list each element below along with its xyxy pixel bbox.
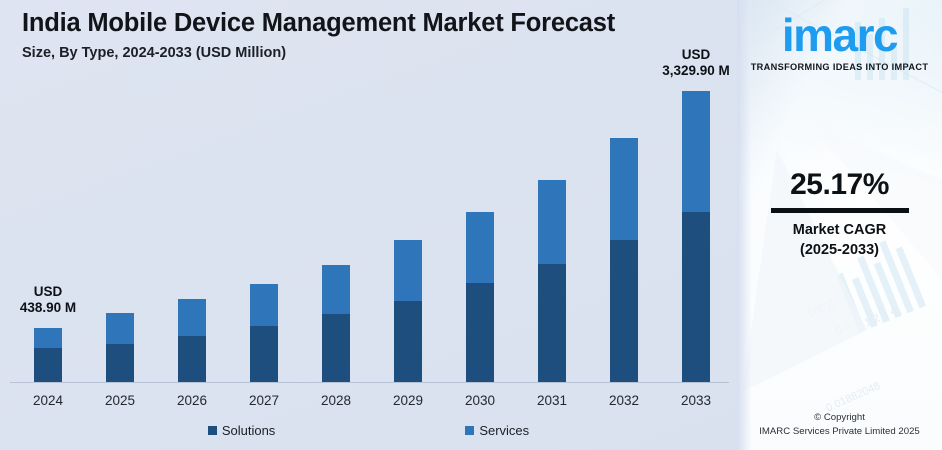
annotation-last-year-value: 3,329.90 M: [636, 63, 737, 79]
x-tick-2033: 2033: [666, 393, 726, 408]
bar-segment-services-2028[interactable]: [322, 265, 350, 314]
logo-wordmark: imarc: [782, 12, 897, 58]
x-tick-2030: 2030: [450, 393, 510, 408]
bar-2028[interactable]: [322, 265, 350, 382]
imarc-logo[interactable]: imarc TRANSFORMING IDEAS INTO IMPACT: [737, 12, 942, 72]
bar-segment-solutions-2029[interactable]: [394, 301, 422, 382]
bar-segment-services-2025[interactable]: [106, 313, 134, 344]
cagr-callout: 25.17% Market CAGR (2025-2033): [737, 168, 942, 258]
bar-2033[interactable]: [682, 91, 710, 382]
bar-segment-solutions-2031[interactable]: [538, 264, 566, 382]
svg-text:0.01882048: 0.01882048: [824, 380, 882, 415]
bar-segment-solutions-2033[interactable]: [682, 212, 710, 382]
annotation-first-year-value: 438.90 M: [0, 300, 108, 316]
x-tick-2028: 2028: [306, 393, 366, 408]
bar-2027[interactable]: [250, 284, 278, 382]
bar-segment-services-2026[interactable]: [178, 299, 206, 336]
bar-segment-services-2024[interactable]: [34, 328, 62, 348]
bar-segment-services-2032[interactable]: [610, 138, 638, 240]
screenshot-root: India Mobile Device Management Market Fo…: [0, 0, 942, 450]
bar-2029[interactable]: [394, 240, 422, 382]
chart-legend: SolutionsServices: [0, 423, 737, 438]
bar-segment-services-2029[interactable]: [394, 240, 422, 301]
x-axis-line: [10, 382, 729, 383]
annotation-last-year-currency: USD: [636, 47, 737, 63]
x-tick-2026: 2026: [162, 393, 222, 408]
bar-2026[interactable]: [178, 299, 206, 382]
legend-label-services: Services: [479, 423, 529, 438]
x-tick-2032: 2032: [594, 393, 654, 408]
bar-segment-services-2031[interactable]: [538, 180, 566, 264]
copyright-block: © Copyright IMARC Services Private Limit…: [737, 411, 942, 439]
bar-2024[interactable]: [34, 328, 62, 382]
chart-panel: India Mobile Device Management Market Fo…: [0, 0, 737, 450]
bar-segment-solutions-2024[interactable]: [34, 348, 62, 382]
bar-segment-solutions-2025[interactable]: [106, 344, 134, 382]
annotation-last-year: USD3,329.90 M: [636, 47, 737, 79]
bar-2032[interactable]: [610, 138, 638, 382]
bar-segment-solutions-2028[interactable]: [322, 314, 350, 382]
annotation-first-year: USD438.90 M: [0, 284, 108, 316]
bar-segment-services-2030[interactable]: [466, 212, 494, 283]
bar-segment-services-2027[interactable]: [250, 284, 278, 326]
copyright-line-2: IMARC Services Private Limited 2025: [737, 425, 942, 439]
cagr-value: 25.17%: [737, 168, 942, 202]
bar-2031[interactable]: [538, 180, 566, 382]
bar-segment-services-2033[interactable]: [682, 91, 710, 212]
x-tick-2029: 2029: [378, 393, 438, 408]
legend-item-solutions[interactable]: Solutions: [208, 423, 275, 438]
copyright-line-1: © Copyright: [737, 411, 942, 425]
legend-swatch-solutions: [208, 426, 217, 435]
bar-segment-solutions-2032[interactable]: [610, 240, 638, 382]
logo-tagline: TRANSFORMING IDEAS INTO IMPACT: [737, 62, 942, 72]
cagr-period: (2025-2033): [737, 242, 942, 258]
bar-chart-plot-area: 2024202520262027202820292030203120322033…: [0, 0, 737, 450]
x-tick-2027: 2027: [234, 393, 294, 408]
legend-swatch-services: [465, 426, 474, 435]
annotation-first-year-currency: USD: [0, 284, 108, 300]
x-tick-2025: 2025: [90, 393, 150, 408]
x-tick-2031: 2031: [522, 393, 582, 408]
bar-segment-solutions-2026[interactable]: [178, 336, 206, 382]
bar-2025[interactable]: [106, 313, 134, 382]
bar-2030[interactable]: [466, 212, 494, 382]
legend-item-services[interactable]: Services: [465, 423, 529, 438]
bar-segment-solutions-2027[interactable]: [250, 326, 278, 382]
cagr-label: Market CAGR: [737, 222, 942, 238]
legend-label-solutions: Solutions: [222, 423, 275, 438]
cagr-underline-rule: [771, 208, 909, 213]
brand-panel: 500.0 0.0 1 2 3 4 0.01882048 imarc TRANS…: [737, 0, 942, 450]
bar-segment-solutions-2030[interactable]: [466, 283, 494, 382]
x-tick-2024: 2024: [18, 393, 78, 408]
